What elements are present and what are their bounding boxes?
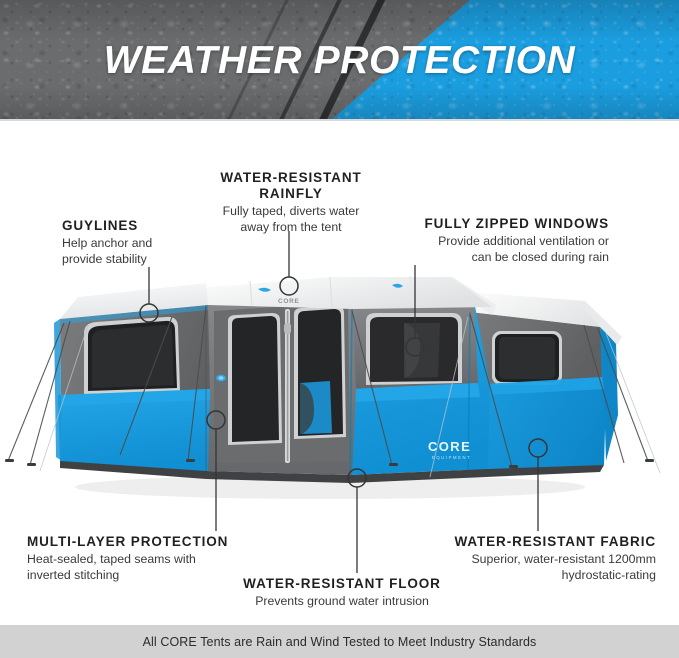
roof-brand-logo: CORE: [278, 298, 300, 305]
callout-windows: FULLY ZIPPED WINDOWS Provide additional …: [395, 216, 609, 265]
callout-fabric-body: Superior, water-resistant 1200mm hydrost…: [432, 552, 656, 583]
banner-title: WEATHER PROTECTION: [0, 0, 679, 121]
banner-divider: [0, 119, 679, 121]
tent-graphic: CORE: [0, 265, 679, 515]
callout-rainfly-title: WATER-RESISTANT RAINFLY: [196, 170, 386, 202]
callout-multi-layer-body-line2: inverted stitching: [27, 568, 119, 582]
svg-text:CORE: CORE: [278, 298, 300, 305]
tent-illustration: CORE: [0, 265, 679, 515]
callout-water-resistant-floor: WATER-RESISTANT FLOOR Prevents ground wa…: [222, 576, 462, 610]
svg-text:EQUIPMENT: EQUIPMENT: [432, 455, 471, 460]
svg-text:CORE: CORE: [428, 439, 471, 454]
callout-guylines-body-line1: Help anchor and: [62, 236, 152, 250]
callout-multi-layer-body-line1: Heat-sealed, taped seams with: [27, 552, 196, 566]
callout-multi-layer-title: MULTI-LAYER PROTECTION: [27, 534, 277, 550]
callout-guylines-body: Help anchor and provide stability: [62, 236, 232, 267]
callout-rainfly-body-line1: Fully taped, diverts water: [223, 204, 360, 218]
callout-windows-body-line1: Provide additional ventilation or: [438, 234, 609, 248]
callout-rainfly: WATER-RESISTANT RAINFLY Fully taped, div…: [196, 170, 386, 235]
callout-windows-body-line2: can be closed during rain: [472, 250, 609, 264]
footer-text: All CORE Tents are Rain and Wind Tested …: [143, 635, 537, 649]
callout-fabric-body-line2: hydrostatic-rating: [562, 568, 656, 582]
callout-rainfly-title-line2: RAINFLY: [259, 186, 323, 201]
callout-rainfly-body: Fully taped, diverts water away from the…: [196, 204, 386, 235]
callout-fabric-title: WATER-RESISTANT FABRIC: [432, 534, 656, 550]
callout-water-resistant-fabric: WATER-RESISTANT FABRIC Superior, water-r…: [432, 534, 656, 583]
callout-floor-title: WATER-RESISTANT FLOOR: [222, 576, 462, 592]
callout-fabric-body-line1: Superior, water-resistant 1200mm: [471, 552, 656, 566]
callout-floor-body: Prevents ground water intrusion: [222, 594, 462, 610]
callout-windows-title: FULLY ZIPPED WINDOWS: [395, 216, 609, 232]
header-banner: WEATHER PROTECTION: [0, 0, 679, 121]
product-brand-badge: CORE EQUIPMENT: [428, 439, 471, 460]
callout-rainfly-body-line2: away from the tent: [240, 220, 341, 234]
callout-rainfly-title-line1: WATER-RESISTANT: [220, 170, 361, 185]
footer-bar: All CORE Tents are Rain and Wind Tested …: [0, 625, 679, 658]
callout-guylines-body-line2: provide stability: [62, 252, 147, 266]
callout-windows-body: Provide additional ventilation or can be…: [395, 234, 609, 265]
